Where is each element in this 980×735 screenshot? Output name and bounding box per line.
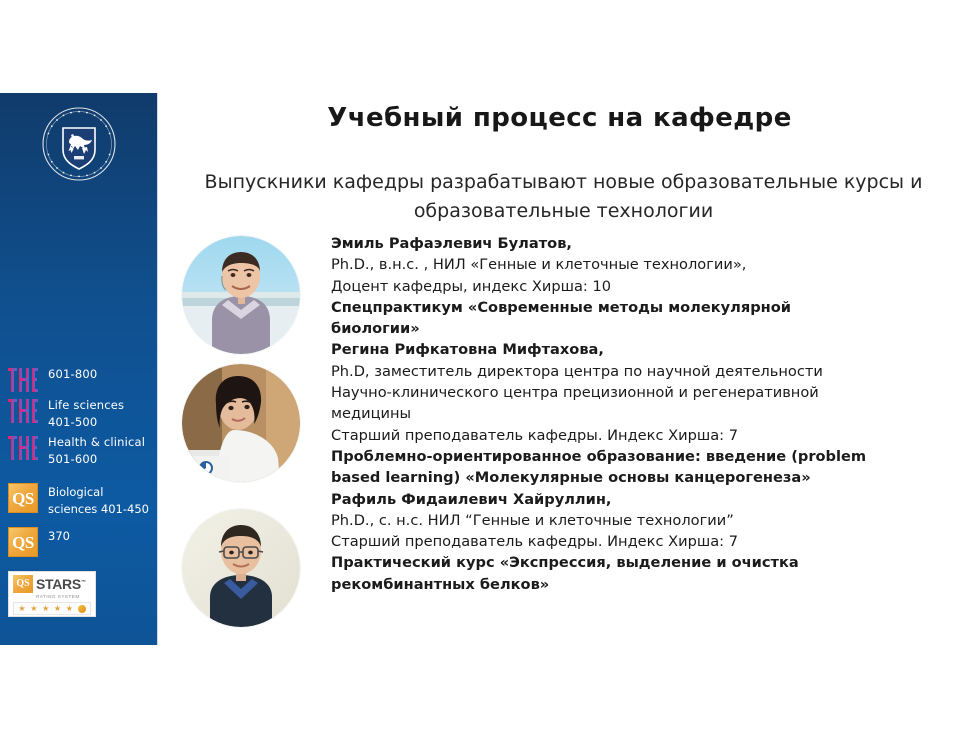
qs-ranking-line: 370 bbox=[48, 528, 70, 545]
star-icon: ★ bbox=[42, 605, 49, 613]
sidebar: 601-800 bbox=[0, 93, 157, 645]
qs-ranking-text: Biological sciences 401-450 bbox=[48, 483, 149, 518]
the-ranking-line: 401-500 bbox=[48, 414, 124, 431]
the-ranking-row: Health & clinical 501-600 bbox=[0, 433, 157, 468]
qs-logo-label: QS bbox=[12, 534, 34, 551]
person-detail: Старший преподаватель кафедры. Индекс Хи… bbox=[331, 531, 945, 552]
main-content: Учебный процесс на кафедре Выпускники ка… bbox=[157, 0, 980, 735]
star-icon: ★ bbox=[18, 605, 25, 613]
star-icon: ★ bbox=[54, 605, 61, 613]
slide-subtitle: Выпускники кафедры разрабатывают новые о… bbox=[187, 168, 940, 226]
person-detail: Научно-клинического центра прецизионной … bbox=[331, 382, 945, 403]
qs-stars-subtitle: RATING SYSTEM bbox=[36, 594, 91, 599]
person-block: Эмиль Рафаэлевич Булатов, Ph.D., в.н.с. … bbox=[331, 233, 945, 339]
trademark-symbol: ™ bbox=[81, 579, 86, 585]
the-ranking-row: Life sciences 401-500 bbox=[0, 396, 157, 431]
person-detail: Старший преподаватель кафедры. Индекс Хи… bbox=[331, 425, 945, 446]
slide-title: Учебный процесс на кафедре bbox=[157, 103, 962, 133]
qs-ranking-line: Biological bbox=[48, 484, 149, 501]
the-ranking-text: 601-800 bbox=[48, 365, 97, 383]
the-ranking-line: 501-600 bbox=[48, 451, 145, 468]
star-icon: ★ bbox=[30, 605, 37, 613]
person-course: Практический курс «Экспрессия, выделение… bbox=[331, 552, 945, 573]
presentation-slide: 601-800 bbox=[0, 0, 980, 735]
portrait-emil-bulatov bbox=[182, 236, 300, 354]
person-course: based learning) «Молекулярные основы кан… bbox=[331, 467, 945, 488]
times-higher-education-logo-icon bbox=[8, 365, 38, 394]
person-block: Рафиль Фидаилевич Хайруллин, Ph.D., с. н… bbox=[331, 489, 945, 595]
the-ranking-line: Health & clinical bbox=[48, 434, 145, 451]
kazan-federal-university-emblem bbox=[41, 106, 117, 182]
qs-stars-word-text: STARS bbox=[36, 576, 81, 592]
person-course: Спецпрактикум «Современные методы молеку… bbox=[331, 297, 945, 318]
qs-stars-logo-icon: QS bbox=[13, 575, 33, 593]
qs-logo-icon: QS bbox=[8, 483, 38, 513]
qs-stars-badge: QS STARS™ RATING SYSTEM ★ ★ ★ ★ ★ bbox=[8, 571, 96, 617]
person-detail: Ph.D., в.н.с. , НИЛ «Генные и клеточные … bbox=[331, 254, 945, 275]
person-name: Рафиль Фидаилевич Хайруллин, bbox=[331, 489, 945, 510]
qs-logo-label: QS bbox=[12, 490, 34, 507]
qs-stars-logo-label: QS bbox=[16, 579, 29, 589]
qs-stars-wordmark: STARS™ bbox=[36, 577, 86, 591]
qs-stars-rating-row: ★ ★ ★ ★ ★ bbox=[13, 602, 91, 615]
qs-logo-icon: QS bbox=[8, 527, 38, 557]
qs-ranking-row: QS Biological sciences 401-450 bbox=[0, 483, 157, 518]
qs-stars-rating-dot bbox=[78, 605, 86, 613]
the-ranking-row: 601-800 bbox=[0, 365, 157, 394]
times-higher-education-logo-icon bbox=[8, 396, 38, 425]
the-ranking-text: Life sciences 401-500 bbox=[48, 396, 124, 431]
the-rankings-list: 601-800 bbox=[0, 365, 157, 470]
star-icon: ★ bbox=[66, 605, 73, 613]
person-name: Регина Рифкатовна Мифтахова, bbox=[331, 339, 945, 360]
person-detail: медицины bbox=[331, 403, 945, 424]
the-ranking-text: Health & clinical 501-600 bbox=[48, 433, 145, 468]
times-higher-education-logo-icon bbox=[8, 433, 38, 462]
person-block: Регина Рифкатовна Мифтахова, Ph.D, замес… bbox=[331, 339, 945, 488]
person-detail: Ph.D, заместитель директора центра по на… bbox=[331, 361, 945, 382]
person-course: рекомбинантных белков» bbox=[331, 574, 945, 595]
qs-stars-header: QS STARS™ bbox=[13, 575, 91, 593]
portrait-regina-miftakhova bbox=[182, 364, 300, 482]
the-ranking-line: Life sciences bbox=[48, 397, 124, 414]
person-detail: Ph.D., с. н.с. НИЛ “Генные и клеточные т… bbox=[331, 510, 945, 531]
person-name: Эмиль Рафаэлевич Булатов, bbox=[331, 233, 945, 254]
the-ranking-line: 601-800 bbox=[48, 366, 97, 383]
person-course: биологии» bbox=[331, 318, 945, 339]
person-course: Проблемно-ориентированное образование: в… bbox=[331, 446, 945, 467]
people-text-column: Эмиль Рафаэлевич Булатов, Ph.D., в.н.с. … bbox=[331, 233, 945, 595]
qs-rankings-list: QS Biological sciences 401-450 QS 370 bbox=[0, 483, 157, 566]
qs-ranking-text: 370 bbox=[48, 527, 70, 545]
qs-ranking-line: sciences 401-450 bbox=[48, 501, 149, 518]
person-detail: Доцент кафедры, индекс Хирша: 10 bbox=[331, 276, 945, 297]
qs-ranking-row: QS 370 bbox=[0, 527, 157, 557]
portrait-rafil-khairullin bbox=[182, 509, 300, 627]
